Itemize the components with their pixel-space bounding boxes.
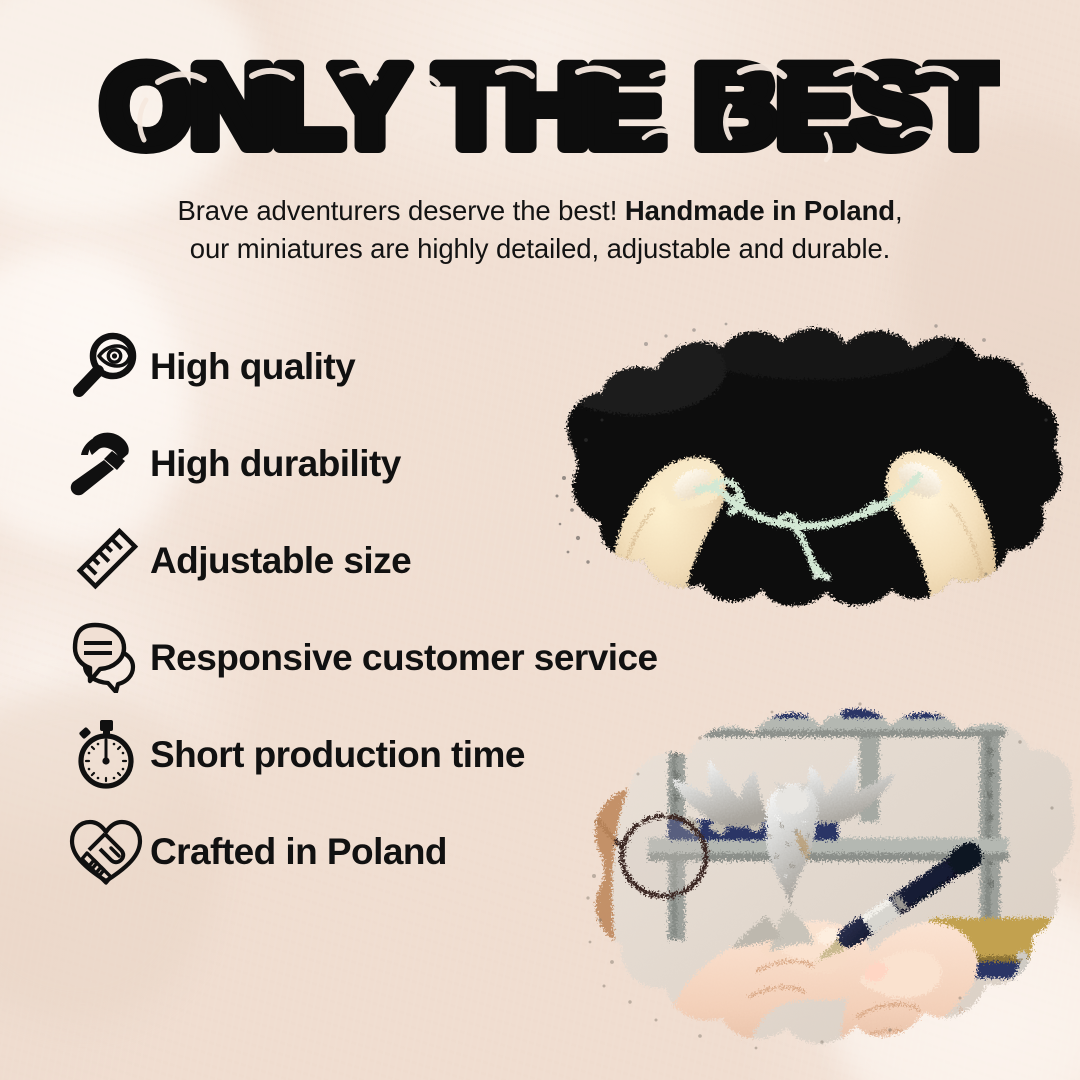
ruler-icon	[62, 524, 150, 596]
subtitle-line-2: our miniatures are highly detailed, adju…	[60, 230, 1020, 268]
subtitle-bold: Handmade in Poland	[625, 195, 895, 226]
poster-canvas: ONLY THE BEST	[0, 0, 1080, 1080]
handshake-heart-icon	[62, 815, 150, 887]
feature-item-high-quality: High quality	[62, 325, 782, 407]
feature-list: High quality High du	[62, 325, 782, 892]
feature-label: Adjustable size	[150, 542, 411, 579]
page-title: ONLY THE BEST	[0, 46, 1080, 174]
feature-label: High durability	[150, 445, 401, 482]
speech-bubbles-icon	[62, 621, 150, 693]
subtitle-tail: ,	[895, 195, 903, 226]
magnifier-eye-icon	[62, 330, 150, 402]
page-title-text: ONLY THE BEST	[101, 46, 999, 171]
feature-label: Crafted in Poland	[150, 833, 447, 870]
subtitle: Brave adventurers deserve the best! Hand…	[60, 192, 1020, 268]
feature-item-production-time: Short production time	[62, 713, 782, 795]
subtitle-line-1: Brave adventurers deserve the best! Hand…	[60, 192, 1020, 230]
feature-item-crafted-in-poland: Crafted in Poland	[62, 810, 782, 892]
feature-item-adjustable-size: Adjustable size	[62, 519, 782, 601]
hammer-icon	[62, 427, 150, 499]
feature-item-high-durability: High durability	[62, 422, 782, 504]
stopwatch-icon	[62, 718, 150, 790]
feature-label: High quality	[150, 348, 355, 385]
subtitle-lead: Brave adventurers deserve the best!	[177, 195, 624, 226]
feature-label: Short production time	[150, 736, 525, 773]
feature-label: Responsive customer service	[150, 639, 658, 676]
feature-item-customer-service: Responsive customer service	[62, 616, 782, 698]
